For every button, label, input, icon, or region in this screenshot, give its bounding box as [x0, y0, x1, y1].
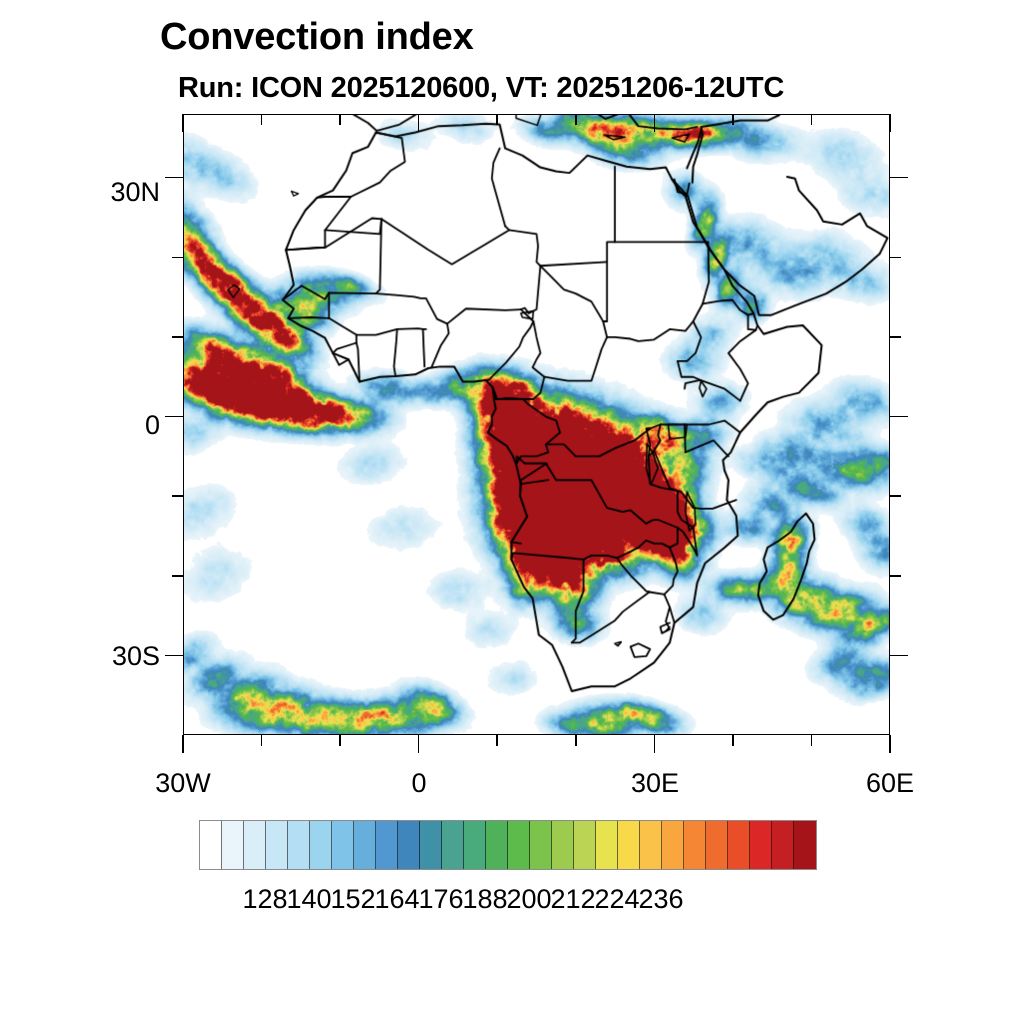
x-axis-label-30E: 30E: [595, 768, 715, 799]
y-tick-30: [165, 177, 183, 179]
x-tick-top-30: [654, 114, 656, 132]
x-tick-50: [811, 735, 813, 746]
x-tick-top-20: [575, 114, 577, 125]
colorbar-cell-13: [486, 821, 508, 869]
colorbar-cell-27: [794, 821, 816, 869]
colorbar-cell-9: [398, 821, 420, 869]
colorbar-cell-8: [376, 821, 398, 869]
x-tick--20: [261, 735, 263, 746]
colorbar-cell-25: [750, 821, 772, 869]
y-tick-right-10: [890, 336, 901, 338]
y-tick-right--20: [890, 575, 901, 577]
y-tick-10: [172, 336, 183, 338]
x-tick-20: [575, 735, 577, 746]
colorbar-cell-19: [618, 821, 640, 869]
x-tick-top-60: [889, 114, 891, 132]
page-title: Convection index: [160, 16, 474, 59]
colorbar-cell-4: [288, 821, 310, 869]
y-tick-right--30: [890, 655, 908, 657]
colorbar-cell-1: [222, 821, 244, 869]
colorbar-label-236: 236: [626, 884, 696, 915]
colorbar-cell-20: [640, 821, 662, 869]
x-axis-label-30W: 30W: [123, 768, 243, 799]
x-tick--30: [182, 735, 184, 753]
x-tick-top-50: [811, 114, 813, 125]
y-axis-label-0: 0: [60, 410, 160, 441]
y-tick--30: [165, 655, 183, 657]
colorbar-cell-21: [662, 821, 684, 869]
colorbar-cell-3: [266, 821, 288, 869]
x-tick-top--20: [261, 114, 263, 125]
colorbar-cell-23: [706, 821, 728, 869]
colorbar-cell-18: [596, 821, 618, 869]
x-tick--10: [339, 735, 341, 746]
convection-index-heatmap: [184, 115, 889, 734]
x-tick-top--30: [182, 114, 184, 132]
x-tick-60: [889, 735, 891, 753]
colorbar-cell-24: [728, 821, 750, 869]
colorbar-cell-15: [530, 821, 552, 869]
convection-index-figure: Convection index Run: ICON 2025120600, V…: [0, 0, 1024, 1024]
colorbar-cell-14: [508, 821, 530, 869]
colorbar: [199, 820, 817, 870]
colorbar-cell-12: [464, 821, 486, 869]
colorbar-cell-11: [442, 821, 464, 869]
colorbar-cell-16: [552, 821, 574, 869]
colorbar-cell-6: [332, 821, 354, 869]
y-tick-0: [165, 416, 183, 418]
colorbar-cell-5: [310, 821, 332, 869]
x-tick-30: [654, 735, 656, 753]
x-tick-40: [732, 735, 734, 746]
x-tick-top-10: [496, 114, 498, 125]
run-valid-time-subtitle: Run: ICON 2025120600, VT: 20251206-12UTC: [178, 72, 784, 105]
colorbar-cell-7: [354, 821, 376, 869]
x-tick-top--10: [339, 114, 341, 125]
y-axis-label-30N: 30N: [60, 177, 160, 208]
x-tick-0: [418, 735, 420, 753]
x-tick-top-40: [732, 114, 734, 125]
y-axis-label-30S: 30S: [60, 641, 160, 672]
colorbar-cell-10: [420, 821, 442, 869]
x-tick-top-0: [418, 114, 420, 132]
colorbar-cell-0: [200, 821, 222, 869]
colorbar-cell-26: [772, 821, 794, 869]
map-plot-area: [183, 114, 890, 735]
y-tick-right--10: [890, 495, 901, 497]
y-tick-20: [172, 257, 183, 259]
x-tick-10: [496, 735, 498, 746]
colorbar-cell-2: [244, 821, 266, 869]
colorbar-cell-22: [684, 821, 706, 869]
x-axis-label-60E: 60E: [830, 768, 950, 799]
y-tick-right-0: [890, 416, 908, 418]
y-tick--10: [172, 495, 183, 497]
y-tick--20: [172, 575, 183, 577]
y-tick-right-30: [890, 177, 908, 179]
colorbar-cell-17: [574, 821, 596, 869]
x-axis-label-0: 0: [359, 768, 479, 799]
y-tick-right-20: [890, 257, 901, 259]
